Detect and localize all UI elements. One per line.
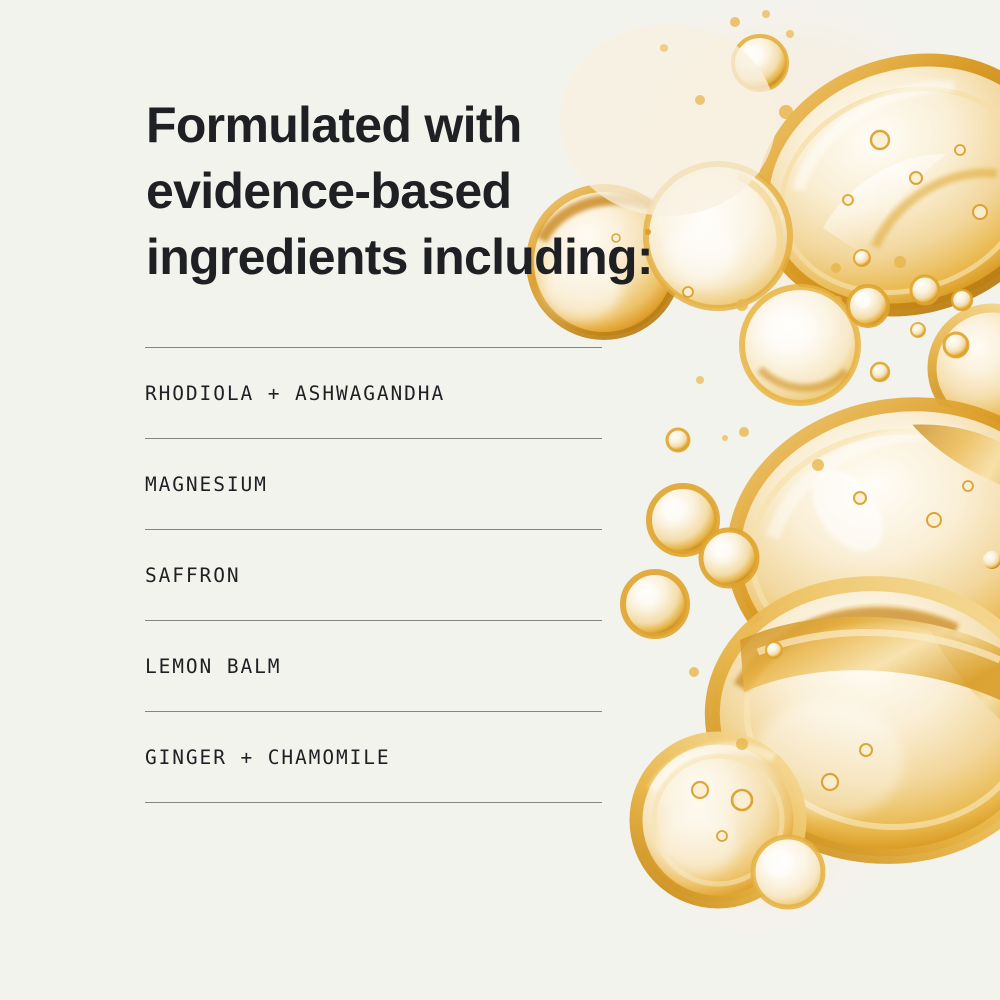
ingredient-label: RHODIOLA + ASHWAGANDHA [145, 382, 445, 405]
ingredient-label: MAGNESIUM [145, 473, 268, 496]
product-ingredient-panel: Formulated with evidence-based ingredien… [0, 0, 1000, 1000]
content-layer: Formulated with evidence-based ingredien… [0, 0, 1000, 1000]
ingredient-list: RHODIOLA + ASHWAGANDHA MAGNESIUM SAFFRON… [145, 347, 602, 803]
page-title: Formulated with evidence-based ingredien… [146, 92, 746, 290]
list-item: SAFFRON [145, 530, 602, 620]
ingredient-label: SAFFRON [145, 564, 240, 587]
list-item: GINGER + CHAMOMILE [145, 712, 602, 802]
ingredient-label: LEMON BALM [145, 655, 281, 678]
list-item: RHODIOLA + ASHWAGANDHA [145, 348, 602, 438]
headline-line-3: ingredients including: [146, 224, 746, 290]
list-item: MAGNESIUM [145, 439, 602, 529]
list-divider-bottom [145, 802, 602, 803]
list-item: LEMON BALM [145, 621, 602, 711]
headline-line-1: Formulated with [146, 92, 746, 158]
ingredient-label: GINGER + CHAMOMILE [145, 746, 391, 769]
headline-line-2: evidence-based [146, 158, 746, 224]
